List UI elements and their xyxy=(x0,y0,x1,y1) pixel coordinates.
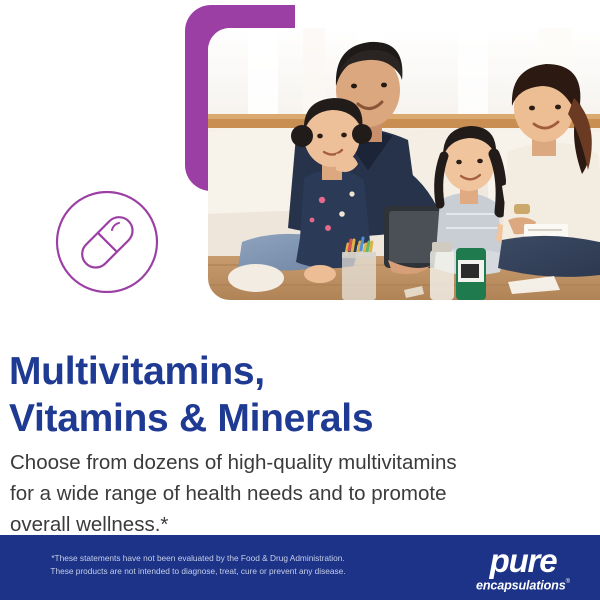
capsule-icon xyxy=(53,191,161,293)
logo-subtitle-wrap: encapsulations® xyxy=(462,576,584,591)
hero-photo-illustration xyxy=(208,28,600,300)
pure-encapsulations-logo: pure encapsulations® xyxy=(462,545,584,591)
fda-disclaimer-line-1: *These statements have not been evaluate… xyxy=(18,552,378,565)
fda-disclaimer-line-2: These products are not intended to diagn… xyxy=(18,565,378,578)
page-title: Multivitamins, Vitamins & Minerals xyxy=(9,348,569,442)
footer-band: *These statements have not been evaluate… xyxy=(0,535,600,600)
registered-trademark-icon: ® xyxy=(566,579,570,585)
page-title-line-1: Multivitamins, xyxy=(9,348,569,395)
description-text: Choose from dozens of high-quality multi… xyxy=(10,447,555,540)
page-title-line-2: Vitamins & Minerals xyxy=(9,395,569,442)
fda-disclaimer: *These statements have not been evaluate… xyxy=(18,552,378,577)
promo-card: Multivitamins, Vitamins & Minerals Choos… xyxy=(0,0,600,600)
hero-photo xyxy=(208,28,600,300)
logo-wordmark: pure xyxy=(462,546,584,576)
capsule-icon-glyph xyxy=(53,191,161,293)
description-line-2: for a wide range of health needs and to … xyxy=(10,478,555,509)
description-line-1: Choose from dozens of high-quality multi… xyxy=(10,447,555,478)
logo-subtitle: encapsulations xyxy=(476,578,566,592)
